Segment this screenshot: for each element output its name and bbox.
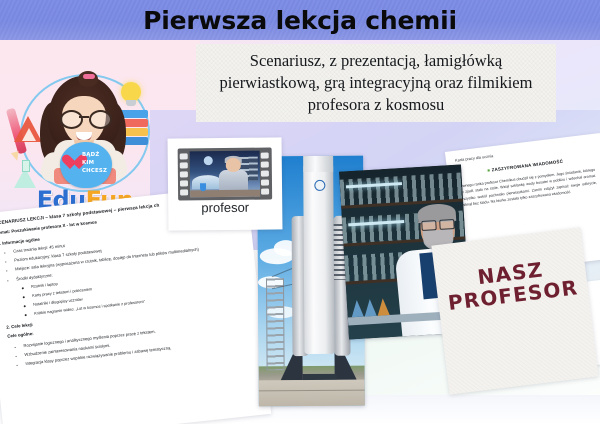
heart-icon [65, 155, 81, 171]
set-square-inner-icon [22, 128, 36, 141]
rocket-icon [303, 164, 334, 354]
badge-text: BĄDŹ KIM CHCESZ [82, 152, 110, 175]
puzzle-piece-icon: ■ [487, 168, 490, 173]
flasks-icon [350, 293, 397, 318]
worksheet-title-text: ZASZYFROWANA WIADOMOŚĆ [491, 159, 563, 173]
glasses-icon [421, 219, 453, 229]
nasz-profesor-text: NASZ PROFESOR [441, 254, 583, 315]
poster-canvas: Pierwsza lekcja chemii Scenariusz, z pre… [0, 0, 600, 424]
badge-badz-kim-chcesz: BĄDŹ KIM CHCESZ [60, 142, 112, 188]
glasses-icon [58, 110, 110, 125]
subtitle-card: Scenariusz, z prezentacją, łamigłówką pi… [196, 44, 556, 122]
scenario-goals-list: Rozwijanie logicznego i analitycznego my… [17, 318, 253, 368]
video-label: profesor [168, 199, 282, 215]
nasz-profesor-card[interactable]: NASZ PROFESOR [431, 227, 598, 394]
video-thumbnail [190, 151, 260, 198]
film-strip-icon [178, 148, 273, 201]
professor-video-card[interactable]: profesor [168, 137, 283, 230]
flask-icon [14, 160, 36, 188]
film-perforations-left [180, 151, 189, 197]
page-title: Pierwsza lekcja chemii [0, 0, 600, 40]
subtitle-text: Scenariusz, z prezentacją, łamigłówką pi… [202, 50, 550, 115]
film-perforations-right [261, 151, 270, 197]
moon-icon [204, 156, 213, 165]
